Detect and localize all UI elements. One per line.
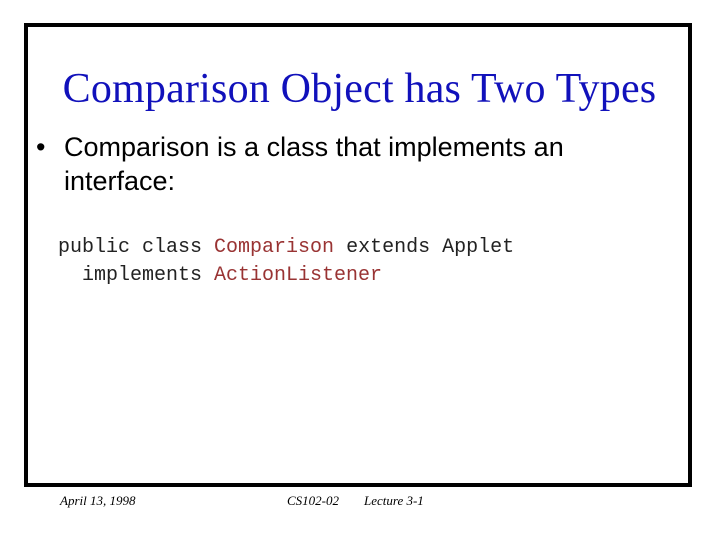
slide-body: • Comparison is a class that implements … — [36, 130, 656, 318]
slide-title: Comparison Object has Two Types — [0, 64, 719, 114]
code-line-1: public class Comparison extends Applet — [58, 236, 514, 259]
code-keyword-implements: implements — [82, 264, 214, 287]
bullet-marker-icon: • — [36, 130, 64, 164]
presentation-slide: Comparison Object has Two Types • Compar… — [0, 0, 719, 539]
code-identifier-comparison: Comparison — [214, 236, 334, 259]
code-keyword-public-class: public class — [58, 236, 214, 259]
code-extends-applet: extends Applet — [334, 236, 514, 259]
code-identifier-actionlistener: ActionListener — [214, 264, 382, 287]
bullet-item-text: Comparison is a class that implements an… — [64, 130, 614, 198]
footer-course-code: CS102-02 — [287, 493, 339, 509]
slide-footer: April 13, 1998 CS102-02 Lecture 3-1 — [24, 493, 692, 513]
code-block: public class Comparison extends Applet i… — [58, 206, 656, 318]
footer-date: April 13, 1998 — [60, 493, 135, 509]
bullet-item: • Comparison is a class that implements … — [36, 130, 656, 198]
code-line-2: implements ActionListener — [58, 264, 382, 287]
footer-lecture-number: Lecture 3-1 — [364, 493, 424, 509]
